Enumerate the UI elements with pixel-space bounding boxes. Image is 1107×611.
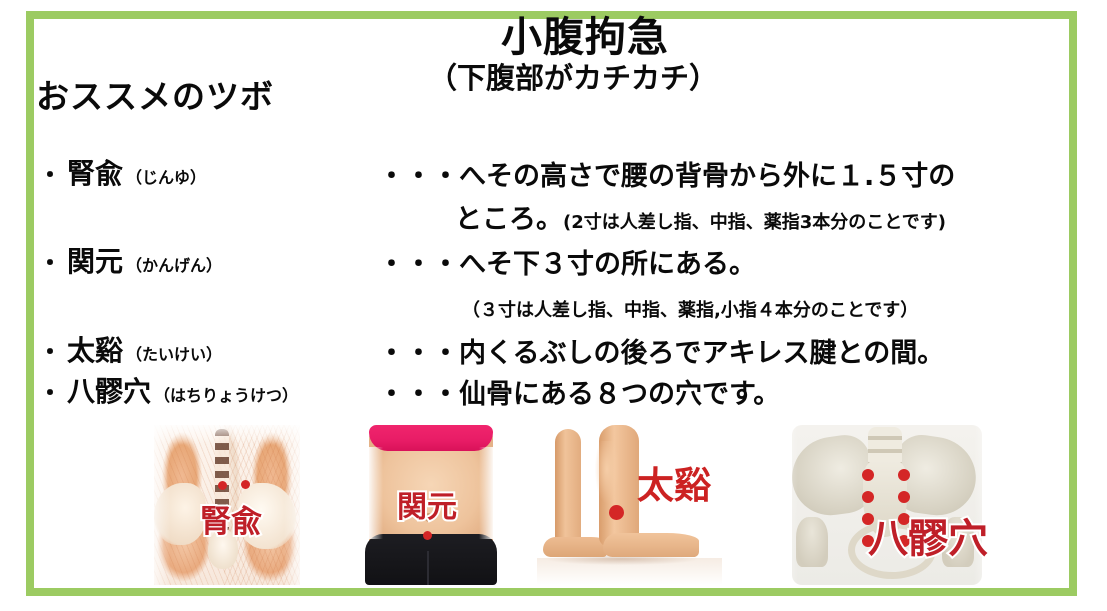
point-kana: （じんゆ） (126, 168, 206, 187)
point-desc-jinyu-line2: ところ。(2寸は人差し指、中指、薬指3本分のことです) (455, 206, 946, 233)
photo-taikei-ankle: 太谿 (537, 425, 722, 585)
point-kana: （はちりょうけつ） (154, 386, 298, 405)
left-foot (543, 537, 607, 557)
edge-fade-left (355, 447, 383, 539)
point-name-jinyu: ・腎兪（じんゆ） (38, 160, 206, 188)
photo-label-hachiryoketsu: 八髎穴 (868, 519, 988, 559)
photo-hachiryoketsu-pelvis: 八髎穴 (770, 425, 1002, 585)
point-name-taikei: ・太谿（たいけい） (38, 337, 222, 365)
list-bullet: ・ (38, 379, 62, 407)
photo-kangen-abdomen: 関元 (355, 425, 507, 585)
right-foot (603, 533, 699, 557)
point-desc-kangen-line1: ・・・へそ下３寸の所にある。 (378, 251, 756, 278)
acupoint-dot (609, 505, 624, 520)
point-name-kangen: ・関元（かんげん） (38, 248, 222, 276)
photo-jinyu-lower-back: 腎兪 (148, 425, 306, 585)
point-desc-kangen-note: （３寸は人差し指、中指、薬指,小指４本分のことです） (462, 302, 918, 320)
photo-label-kangen: 関元 (397, 493, 457, 523)
point-desc-hachiryoketsu-line1: ・・・仙骨にある８つの穴です。 (378, 381, 780, 408)
list-bullet: ・ (38, 249, 62, 277)
slide-page: 小腹拘急 （下腹部がカチカチ） おススメのツボ ・腎兪（じんゆ） ・関元（かんげ… (0, 0, 1107, 611)
point-name-hachiryoketsu: ・八髎穴（はちりょうけつ） (38, 378, 298, 406)
page-subtitle: （下腹部がカチカチ） (363, 63, 783, 95)
point-kana: （かんげん） (126, 256, 222, 275)
acupoint-dot (898, 469, 910, 481)
photo-label-jinyu: 腎兪 (200, 507, 262, 538)
photo-label-taikei: 太谿 (637, 467, 711, 504)
black-pants (365, 534, 497, 585)
left-leg (555, 429, 581, 547)
desc-main: ところ。 (455, 204, 563, 235)
acupoint-dot (898, 491, 910, 503)
list-bullet: ・ (38, 338, 62, 366)
point-kanji: 太谿 (67, 334, 123, 367)
calf-highlight (595, 441, 619, 503)
recommend-heading: おススメのツボ (36, 70, 274, 118)
page-title: 小腹拘急 (375, 16, 795, 59)
acupoint-dot (862, 469, 874, 481)
point-kanji: 関元 (67, 245, 123, 278)
point-desc-taikei-line1: ・・・内くるぶしの後ろでアキレス腱との間。 (378, 340, 944, 367)
edge-fade-right (479, 447, 507, 539)
pants-seam (427, 551, 429, 585)
point-kana: （たいけい） (126, 345, 222, 364)
desc-note-inline: (2寸は人差し指、中指、薬指3本分のことです) (563, 212, 946, 233)
acupoint-dot (218, 481, 227, 490)
point-kanji: 腎兪 (67, 157, 123, 190)
acupoint-dot (423, 531, 432, 540)
point-kanji: 八髎穴 (67, 375, 151, 408)
list-bullet: ・ (38, 161, 62, 189)
pink-sports-top (369, 425, 493, 451)
acupoint-dot (862, 491, 874, 503)
acupoint-dot (241, 480, 250, 489)
point-desc-jinyu-line1: ・・・へその高さで腰の背骨から外に１.５寸の (378, 163, 955, 190)
